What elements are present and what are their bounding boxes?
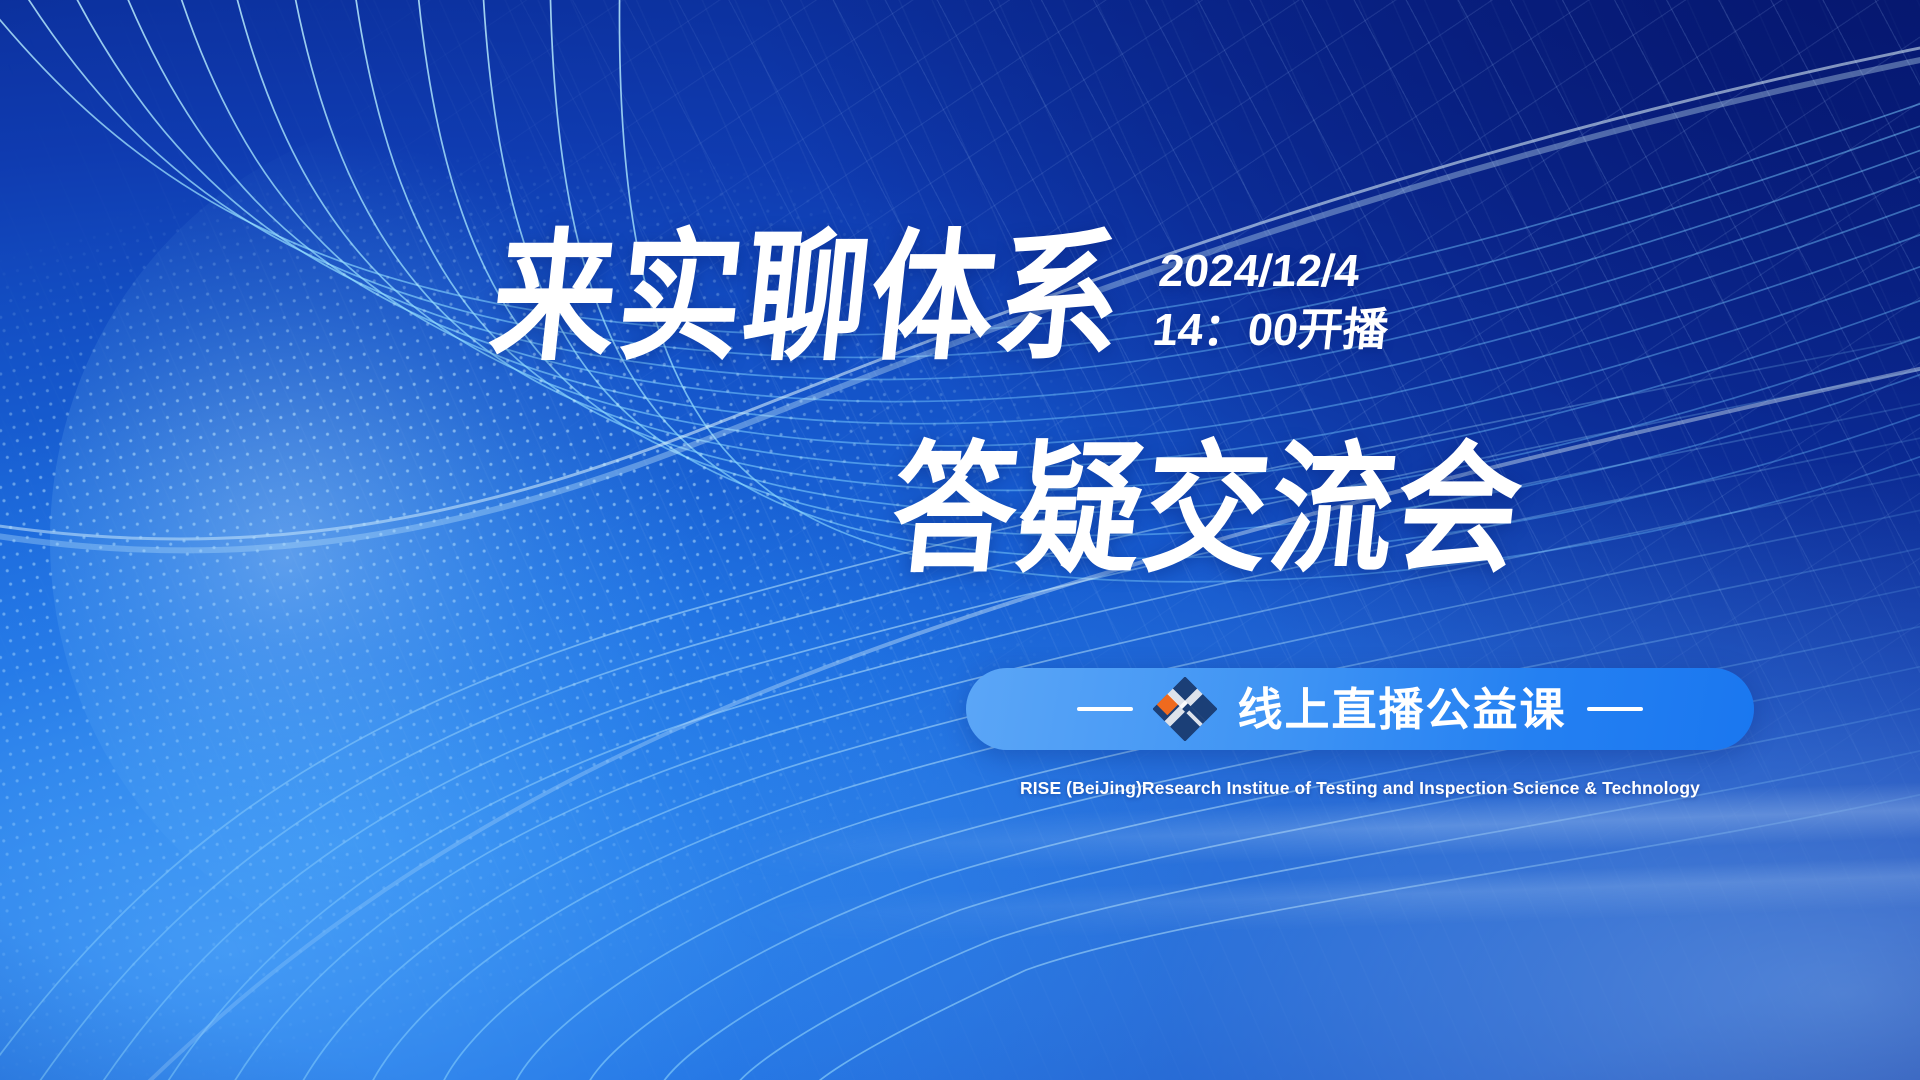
broadcast-time: 14：00开播: [1150, 301, 1391, 360]
dash-rule-icon-left: [1077, 707, 1133, 711]
live-course-badge: 线上直播公益课: [966, 668, 1754, 750]
dash-rule-icon-right: [1587, 707, 1643, 711]
broadcast-date: 2024/12/4: [1156, 242, 1397, 301]
badge-label: 线上直播公益课: [1237, 687, 1566, 732]
headline-row: 来实聊体系 2024/12/4 14：00开播: [500, 228, 1391, 359]
headline-line-1: 来实聊体系: [485, 228, 1130, 369]
diamond-logo-icon: [1153, 677, 1217, 741]
organization-name: RISE (BeiJing)Research Institue of Testi…: [966, 778, 1754, 799]
promo-poster: 来实聊体系 2024/12/4 14：00开播 答疑交流会: [0, 0, 1920, 1080]
broadcast-datetime: 2024/12/4 14：00开播: [1150, 242, 1397, 359]
headline-line-2: 答疑交流会: [885, 440, 1530, 581]
poster-content: 来实聊体系 2024/12/4 14：00开播 答疑交流会: [0, 0, 1920, 1080]
